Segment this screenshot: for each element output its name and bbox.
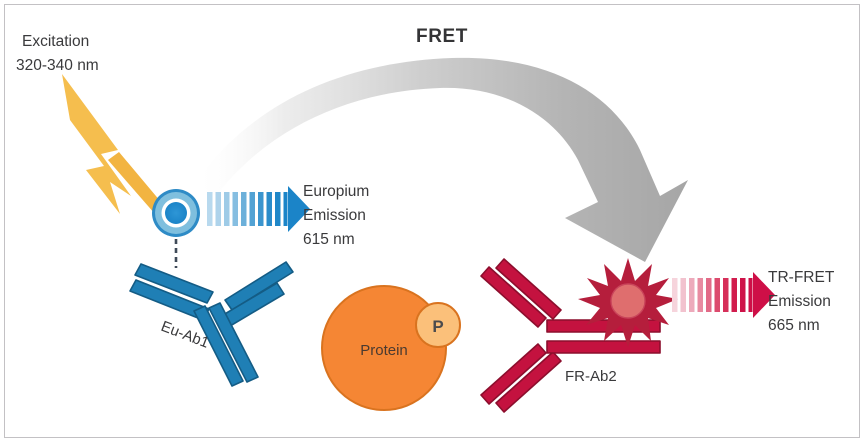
fret-arrow-shape <box>196 58 688 262</box>
tr-fret-emission-line1: TR-FRET <box>768 269 835 286</box>
diagram-canvas: FRET Excitation 320-340 nm <box>0 0 865 443</box>
lightning-bolt-icon <box>62 74 166 214</box>
phospho-badge-label: P <box>432 317 443 336</box>
europium-emission-line2: Emission <box>303 207 366 224</box>
fret-energy-transfer-arrow <box>196 58 688 262</box>
excitation-label-line2: 320-340 nm <box>16 57 99 74</box>
europium-emission-line3: 615 nm <box>303 231 355 248</box>
europium-donor-fluorophore <box>152 189 200 237</box>
tr-fret-emission-line2: Emission <box>768 293 831 310</box>
fret-title: FRET <box>416 26 468 47</box>
europium-emission-line1: Europium <box>303 183 369 200</box>
tr-fret-emission-arrow <box>672 272 775 318</box>
excitation-label-line1: Excitation <box>22 33 89 50</box>
fret-diagram-figure: FRET Excitation 320-340 nm <box>0 0 865 443</box>
europium-emission-arrow <box>207 186 310 232</box>
fr-ab2-label: FR-Ab2 <box>565 368 617 385</box>
tr-fret-emission-line3: 665 nm <box>768 317 820 334</box>
far-red-acceptor-fluorophore <box>578 258 678 347</box>
eu-ab1-antibody <box>130 262 293 386</box>
protein-label: Protein <box>360 342 408 359</box>
